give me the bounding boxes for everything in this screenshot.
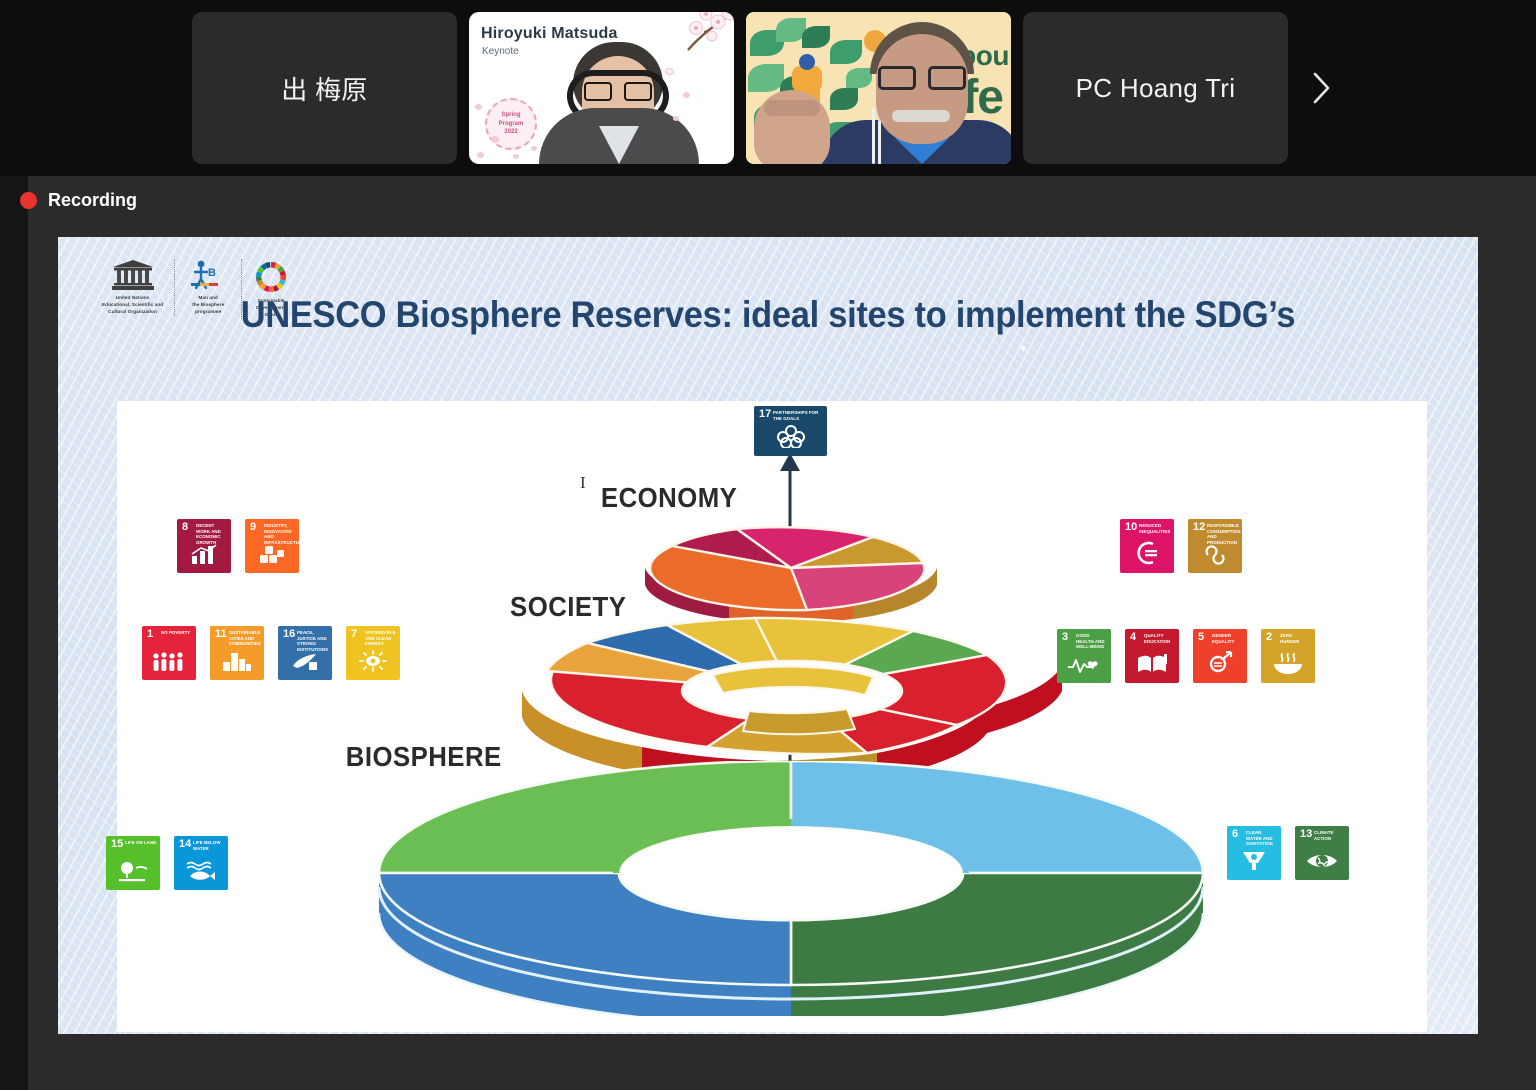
- sdg-glyph-5: [1193, 651, 1247, 679]
- participant-tile-2-active-speaker[interactable]: abou ife: [746, 12, 1011, 164]
- participant-role-1: Keynote: [482, 46, 519, 57]
- sdg-badge-10: 10 Reduced Inequalities: [1120, 519, 1174, 573]
- sdg-title-15: Life on Land: [125, 840, 157, 846]
- sdg-title-13: Climate Action: [1314, 830, 1346, 841]
- sdg-number-12: 12: [1193, 522, 1205, 533]
- sdg-number-17: 17: [759, 409, 771, 420]
- sdg-badge-6: 6 Clean Water and Sanitation: [1227, 826, 1281, 880]
- sdg-number-14: 14: [179, 839, 191, 850]
- sdg-title-4: Quality Education: [1144, 633, 1176, 644]
- sdg-glyph-1: [142, 652, 196, 676]
- participant-name-1: Hiroyuki Matsuda: [481, 25, 618, 43]
- sdg-number-13: 13: [1300, 829, 1312, 840]
- sdg-glyph-2: [1261, 653, 1315, 679]
- sdg-number-7: 7: [351, 629, 357, 640]
- sdg-glyph-14: [174, 860, 228, 886]
- participant-filmstrip: 出 梅原 Hiroyuki Matsuda Keynote SpringProg…: [0, 0, 1536, 176]
- participant-name-3: PC Hoang Tri: [1076, 73, 1236, 104]
- sdg-number-9: 9: [250, 522, 256, 533]
- sdg-glyph-13: [1295, 850, 1349, 876]
- sdg-glyph-10: [1120, 541, 1174, 569]
- participant-tile-0[interactable]: 出 梅原: [192, 12, 457, 164]
- sdg-title-3: Good Health and Well-Being: [1076, 633, 1108, 650]
- sdg-title-5: Gender Equality: [1212, 633, 1244, 644]
- record-dot-icon: [20, 192, 37, 209]
- sdg-glyph-16: [278, 650, 332, 676]
- sdg-badge-13: 13 Climate Action: [1295, 826, 1349, 880]
- svg-text:B: B: [208, 267, 216, 279]
- sdg-glyph-7: [346, 650, 400, 676]
- sdg-glyph-11: [210, 650, 264, 676]
- participant-tile-1[interactable]: Hiroyuki Matsuda Keynote SpringProgram20…: [469, 12, 734, 164]
- sdg-number-1: 1: [147, 629, 153, 640]
- sdg-title-8: Decent Work and Economic Growth: [196, 523, 228, 545]
- raised-hand: [754, 90, 830, 164]
- sdg-number-5: 5: [1198, 632, 1204, 643]
- sdg-wedding-cake-diagram: 17 Partnerships for the Goals ECON: [117, 401, 1427, 1032]
- sdg-badge-15: 15 Life on Land: [106, 836, 160, 890]
- slide-title: UNESCO Biosphere Reserves: ideal sites t…: [108, 294, 1429, 336]
- sdg-number-3: 3: [1062, 632, 1068, 643]
- sdg-glyph-12: [1188, 545, 1242, 569]
- sdg-badge-17: 17 Partnerships for the Goals: [754, 406, 827, 456]
- sdg-number-10: 10: [1125, 522, 1137, 533]
- sdg-title-14: Life Below Water: [193, 840, 225, 851]
- sdg-title-11: Sustainable Cities and Communities: [229, 630, 261, 647]
- sdg-title-16: Peace, Justice and Strong Institutions: [297, 630, 329, 652]
- text-cursor: I: [580, 473, 586, 493]
- recording-indicator: Recording: [28, 190, 137, 211]
- sdg-number-2: 2: [1266, 632, 1272, 643]
- sdg-badge-2: 2 Zero Hunger: [1261, 629, 1315, 683]
- participant-name-0: 出 梅原: [281, 70, 367, 107]
- sdg-glyph-15: [106, 860, 160, 886]
- participant-tile-3[interactable]: PC Hoang Tri: [1023, 12, 1288, 164]
- sdg-number-11: 11: [215, 629, 227, 640]
- sdg-badge-12: 12 Responsible Consumption and Productio…: [1188, 519, 1242, 573]
- sdg-glyph-8: [177, 543, 231, 569]
- sdg-badge-16: 16 Peace, Justice and Strong Institution…: [278, 626, 332, 680]
- sdg-glyph-6: [1227, 848, 1281, 876]
- sdg-glyph-17: [754, 422, 827, 452]
- sdg-badge-1: 1 No Poverty: [142, 626, 196, 680]
- sdg-number-6: 6: [1232, 829, 1238, 840]
- sdg-number-15: 15: [111, 839, 123, 850]
- sdg-glyph-4: [1125, 653, 1179, 679]
- sdg-badge-7: 7 Affordable and Clean Energy: [346, 626, 400, 680]
- sdg-badge-8: 8 Decent Work and Economic Growth: [177, 519, 231, 573]
- sdg-badge-3: 3 Good Health and Well-Being: [1057, 629, 1111, 683]
- left-gutter: [0, 176, 28, 1090]
- sdg-glyph-9: [245, 543, 299, 569]
- recording-label: Recording: [48, 190, 137, 211]
- shared-slide[interactable]: United NationsEducational, Scientific an…: [58, 237, 1478, 1034]
- sdg-number-4: 4: [1130, 632, 1136, 643]
- chevron-right-icon[interactable]: [1300, 58, 1344, 118]
- sdg-badge-11: 11 Sustainable Cities and Communities: [210, 626, 264, 680]
- sdg-title-17: Partnerships for the Goals: [773, 410, 824, 421]
- sdg-title-1: No Poverty: [161, 630, 193, 636]
- sdg-badge-14: 14 Life Below Water: [174, 836, 228, 890]
- sdg-title-6: Clean Water and Sanitation: [1246, 830, 1278, 847]
- sdg-number-16: 16: [283, 629, 295, 640]
- sdg-title-12: Responsible Consumption and Production: [1207, 523, 1239, 545]
- sdg-badge-9: 9 Industry, Innovation and Infrastructur…: [245, 519, 299, 573]
- sdg-title-10: Reduced Inequalities: [1139, 523, 1171, 534]
- biosphere-tier-3d: [369, 761, 1209, 1016]
- sdg-glyph-3: [1057, 655, 1111, 679]
- sdg-number-8: 8: [182, 522, 188, 533]
- sdg-title-7: Affordable and Clean Energy: [365, 630, 397, 647]
- sdg-badge-5: 5 Gender Equality: [1193, 629, 1247, 683]
- sdg-badge-4: 4 Quality Education: [1125, 629, 1179, 683]
- tier-label-economy: ECONOMY: [601, 482, 737, 514]
- screen-share-region: Recording United NationsEducation: [0, 176, 1536, 1090]
- diagram-card: 17 Partnerships for the Goals ECON: [117, 401, 1427, 1032]
- sdg-title-9: Industry, Innovation and Infrastructure: [264, 523, 296, 545]
- sdg-title-2: Zero Hunger: [1280, 633, 1312, 644]
